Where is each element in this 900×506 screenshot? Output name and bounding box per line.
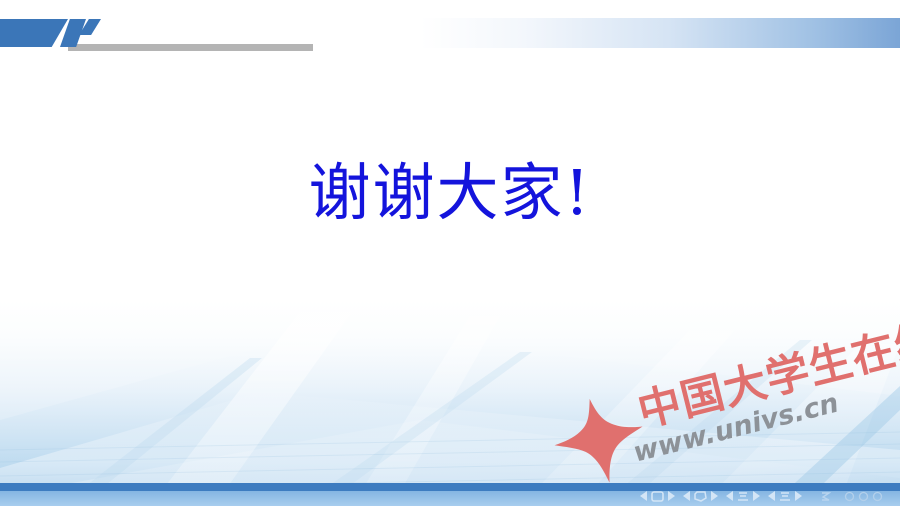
blue-gradient-band (420, 18, 900, 48)
gray-rule-bar (68, 44, 313, 51)
nav-group-extra[interactable] (820, 491, 883, 502)
zoom-in-button[interactable] (872, 491, 883, 502)
prev-button-4[interactable] (768, 491, 776, 501)
presentation-slide: 谢谢大家! (0, 0, 900, 506)
next-button-4[interactable] (794, 491, 802, 501)
page-title: 谢谢大家! (0, 160, 900, 225)
shape-button[interactable] (694, 491, 707, 502)
next-button-3[interactable] (752, 491, 760, 501)
zoom-reset-button[interactable] (858, 491, 869, 502)
nav-group-2[interactable] (683, 491, 718, 502)
nav-group-1[interactable] (640, 491, 675, 502)
slideshow-navigation-controls[interactable] (640, 489, 891, 503)
ribbon-pattern-svg (0, 300, 900, 506)
prev-button-2[interactable] (683, 491, 691, 501)
zoom-out-button[interactable] (844, 491, 855, 502)
nav-group-3[interactable] (726, 491, 760, 502)
decorative-background-artwork (0, 300, 900, 506)
stop-button[interactable] (651, 491, 664, 502)
prev-button[interactable] (640, 491, 648, 501)
next-button[interactable] (667, 491, 675, 501)
slide-title-block: 谢谢大家! (0, 160, 900, 225)
blue-parallelogram-shape (0, 19, 68, 47)
prev-button-3[interactable] (726, 491, 734, 501)
pointer-button[interactable] (820, 491, 831, 502)
lines-button-2[interactable] (779, 491, 791, 502)
nav-group-4[interactable] (768, 491, 802, 502)
slide-header (0, 0, 900, 70)
next-button-2[interactable] (710, 491, 718, 501)
nav-spacer (810, 496, 820, 497)
lines-button[interactable] (737, 491, 749, 502)
